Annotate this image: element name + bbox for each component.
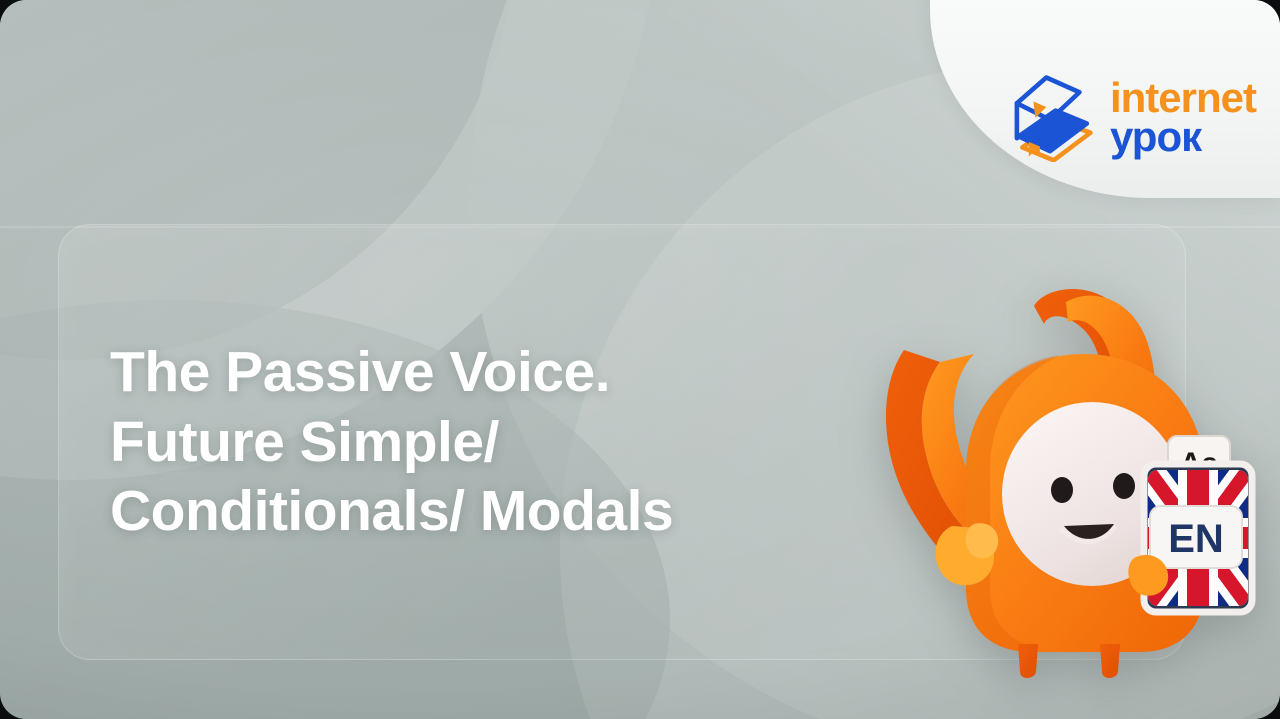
lesson-title-slide: The Passive Voice. Future Simple/ Condit…	[0, 0, 1280, 719]
page-title: The Passive Voice. Future Simple/ Condit…	[110, 338, 830, 547]
logo-line-internet: internet	[1110, 78, 1256, 117]
svg-text:EN: EN	[1168, 517, 1224, 561]
logo-line-urok: урок	[1110, 117, 1256, 156]
en-label: EN	[1150, 506, 1242, 568]
brand-logo[interactable]: internet урок	[1004, 72, 1256, 162]
mascot-illustration: Aa	[848, 258, 1268, 678]
title-line-1: The Passive Voice.	[110, 338, 830, 408]
mascot-eye-right	[1113, 473, 1135, 499]
title-line-3: Conditionals/ Modals	[110, 477, 830, 547]
mascot-eye-left	[1051, 477, 1073, 503]
title-line-2: Future Simple/	[110, 408, 830, 478]
laptop-book-play-logo-icon	[1004, 72, 1096, 162]
logo-wordmark: internet урок	[1110, 78, 1256, 157]
